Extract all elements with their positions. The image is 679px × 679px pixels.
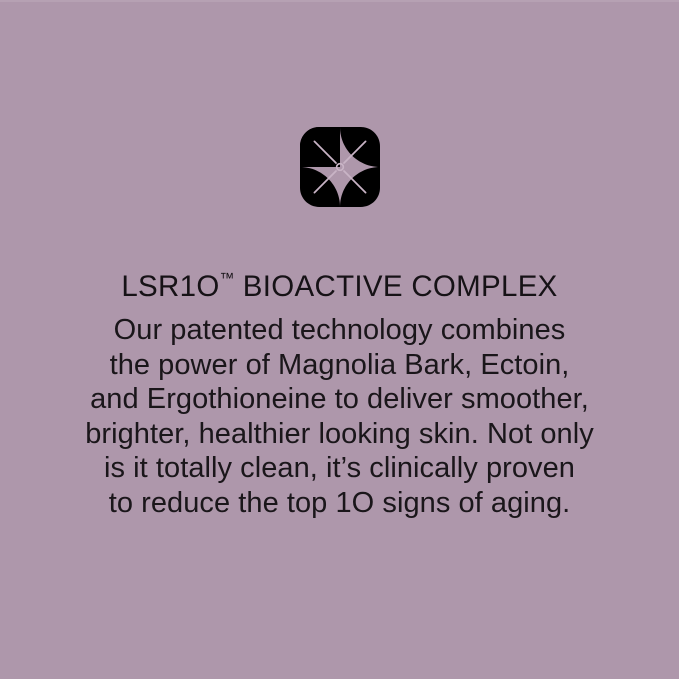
product-description: Our patented technology combines the pow… <box>0 313 679 521</box>
product-title-suffix: BIOACTIVE COMPLEX <box>234 270 557 303</box>
four-petal-clover-icon <box>300 127 380 207</box>
description-line: the power of Magnolia Bark, Ectoin, <box>0 348 679 383</box>
top-edge-hairline <box>0 0 679 2</box>
product-info-card: LSR1O™ BIOACTIVE COMPLEX Our patented te… <box>0 0 679 679</box>
description-line: Our patented technology combines <box>0 313 679 348</box>
description-line: brighter, healthier looking skin. Not on… <box>0 417 679 452</box>
brand-logo-container <box>0 127 679 207</box>
description-line: is it totally clean, it’s clinically pro… <box>0 451 679 486</box>
description-line: and Ergothioneine to deliver smoother, <box>0 382 679 417</box>
description-line: to reduce the top 1O signs of aging. <box>0 486 679 521</box>
trademark-symbol: ™ <box>220 271 235 287</box>
product-title: LSR1O™ BIOACTIVE COMPLEX <box>0 262 679 304</box>
product-title-name: LSR1O <box>121 270 219 303</box>
